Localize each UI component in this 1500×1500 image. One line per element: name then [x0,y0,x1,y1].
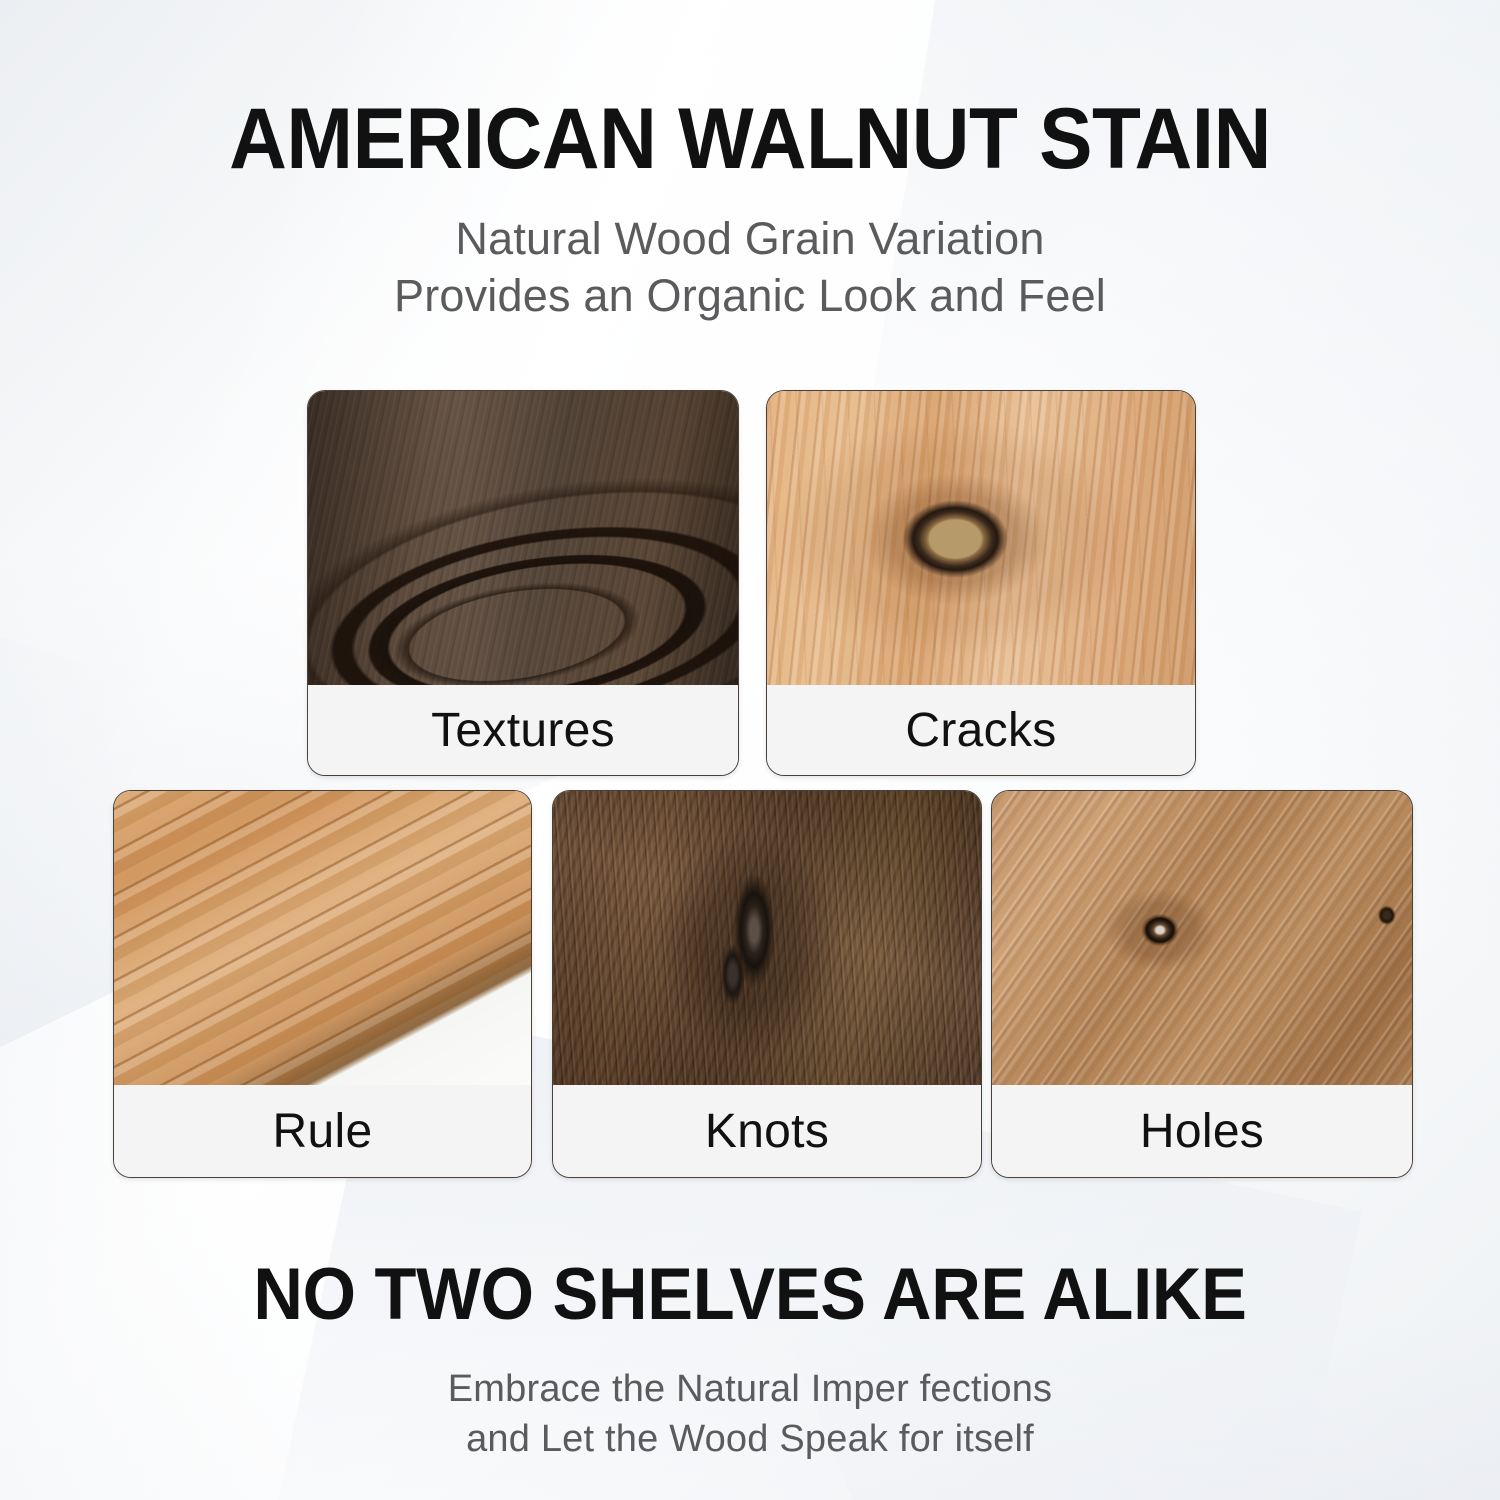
feature-card-rule[interactable]: Rule [113,790,532,1178]
infographic-canvas: AMERICAN WALNUT STAIN Natural Wood Grain… [0,0,1500,1500]
page-title: AMERICAN WALNUT STAIN [53,96,1448,184]
page-subtitle: Natural Wood Grain Variation Provides an… [0,210,1500,325]
wood-photo-textures [308,391,738,687]
white-backdrop [114,791,531,1087]
card-label-knots: Knots [553,1085,981,1177]
feature-card-holes[interactable]: Holes [991,790,1413,1178]
card-label-text: Knots [705,1104,829,1159]
card-label-holes: Holes [992,1085,1412,1177]
wood-knot-swatch [553,791,981,1087]
footer-block: NO TWO SHELVES ARE ALIKE Embrace the Nat… [0,1253,1500,1464]
page-subtitle-line-2: Provides an Organic Look and Feel [0,267,1500,325]
wood-photo-cracks [767,391,1195,687]
wood-photo-holes [992,791,1412,1087]
card-label-text: Textures [431,703,615,758]
card-label-text: Holes [1140,1104,1264,1159]
feature-card-cracks[interactable]: Cracks [766,390,1196,776]
footer-subtitle: Embrace the Natural Imper fections and L… [0,1364,1500,1464]
feature-card-knots[interactable]: Knots [552,790,982,1178]
wood-photo-knots [553,791,981,1087]
card-label-text: Cracks [905,703,1056,758]
card-label-text: Rule [273,1104,373,1159]
feature-card-textures[interactable]: Textures [307,390,739,776]
footer-subtitle-line-1: Embrace the Natural Imper fections [0,1364,1500,1414]
page-subtitle-line-1: Natural Wood Grain Variation [0,210,1500,268]
footer-subtitle-line-2: and Let the Wood Speak for itself [0,1414,1500,1464]
header-block: AMERICAN WALNUT STAIN Natural Wood Grain… [0,96,1500,325]
footer-title: NO TWO SHELVES ARE ALIKE [45,1253,1455,1336]
card-label-cracks: Cracks [767,685,1195,775]
wood-crack-knot-swatch [767,391,1195,687]
wood-hole-swatch [992,791,1412,1087]
card-label-rule: Rule [114,1085,531,1177]
card-label-textures: Textures [308,685,738,775]
wood-texture-swatch [308,391,738,687]
wood-photo-rule [114,791,531,1087]
